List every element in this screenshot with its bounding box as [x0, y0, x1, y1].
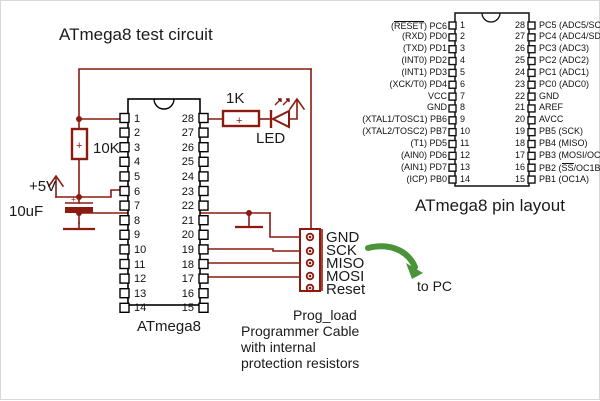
pin-pad [449, 22, 456, 29]
label-to-pc: to PC [417, 279, 452, 293]
pin-pad [120, 289, 129, 298]
pin-pad [528, 129, 535, 136]
pinout-right-row: PC3 (ADC3) [539, 44, 589, 53]
pinout-left-pin-number: 9 [460, 115, 465, 124]
pinout-right-row: AREF [539, 103, 563, 112]
pin-pad [199, 245, 208, 254]
pin-pad [528, 93, 535, 100]
pinout-left-row: GND [353, 103, 447, 112]
pin-pad [199, 303, 208, 312]
pinout-right-pin-number: 26 [508, 44, 525, 53]
pin-pad [528, 164, 535, 171]
pinout-right-row: PB1 (OC1A) [539, 175, 589, 184]
pin-pad [528, 141, 535, 148]
pin-pad [120, 260, 129, 269]
pinout-right-pin-number: 23 [508, 80, 525, 89]
pin-pad [528, 22, 535, 29]
pinout-left-pin-number: 11 [460, 139, 469, 148]
connector-caption-line: protection resistors [241, 356, 359, 370]
pin-pad [449, 46, 456, 53]
pinout-left-row: (INT0) PD2 [353, 56, 447, 65]
pin-pad [199, 114, 208, 123]
pinout-right-row: PC1 (ADC1) [539, 68, 589, 77]
ic-right-pin-number: 20 [178, 230, 194, 241]
pin-pad [199, 187, 208, 196]
pinout-left-pin-number: 5 [460, 68, 465, 77]
pinout-right-row: PB5 (SCK) [539, 127, 583, 136]
pinout-right-pin-number: 22 [508, 92, 525, 101]
pin-pad [199, 230, 208, 239]
ic-right-pin-number: 21 [178, 216, 194, 227]
pin-pad [449, 105, 456, 112]
pin-pad [449, 141, 456, 148]
ic-left-pin-number: 4 [134, 157, 140, 168]
pin-pad [528, 58, 535, 65]
pin-pad [120, 157, 129, 166]
ic-right-pin-number: 27 [178, 128, 194, 139]
pin-pad [449, 129, 456, 136]
pinout-right-row: AVCC [539, 115, 563, 124]
pin-pad [199, 289, 208, 298]
pin-pad [528, 152, 535, 159]
ic-left-pin-number: 10 [134, 245, 146, 256]
pinout-left-pin-number: 10 [460, 127, 470, 136]
ic-left-pin-number: 8 [134, 216, 140, 227]
ic-right-pin-number: 24 [178, 172, 194, 183]
pin-pad [120, 245, 129, 254]
pin-pad [449, 152, 456, 159]
ic-right-pin-number: 18 [178, 260, 194, 271]
label-led: LED [256, 131, 285, 146]
label-10k: 10K [93, 141, 120, 156]
pinout-title: ATmega8 pin layout [415, 197, 565, 214]
pinout-left-pin-number: 13 [460, 163, 470, 172]
pinout-left-row: (INT1) PD3 [353, 68, 447, 77]
ic-left-pin-number: 11 [134, 260, 145, 271]
ic-right-pin-number: 17 [178, 274, 194, 285]
pinout-left-pin-number: 2 [460, 32, 465, 41]
pinout-right-row: PB3 (MOSI/OC2) [539, 151, 600, 160]
ic-right-pin-number: 25 [178, 157, 194, 168]
pinout-right-pin-number: 24 [508, 68, 525, 77]
pinout-right-pin-number: 18 [508, 139, 525, 148]
pin-pad [199, 172, 208, 181]
pin-pad [528, 46, 535, 53]
pinout-right-row: PC4 (ADC4/SDA) [539, 32, 600, 41]
pin-pad [449, 117, 456, 124]
pinout-right-row: PB4 (MISO) [539, 139, 588, 148]
connector-caption-line: Prog_load [293, 308, 357, 322]
pinout-right-pin-number: 28 [508, 21, 525, 30]
pinout-left-pin-number: 1 [460, 21, 465, 30]
ic-right-pin-number: 19 [178, 245, 194, 256]
pinout-right-pin-number: 16 [508, 163, 525, 172]
pin-pad [199, 157, 208, 166]
pinout-left-pin-number: 4 [460, 56, 465, 65]
pinout-left-row: (ICP) PB0 [353, 175, 447, 184]
pin-pad [449, 81, 456, 88]
pin-pad [199, 143, 208, 152]
pinout-left-pin-number: 8 [460, 103, 465, 112]
pinout-right-row: PC5 (ADC5/SCL) [539, 21, 600, 30]
pin-pad [449, 176, 456, 183]
pin-pad [449, 69, 456, 76]
pin-pad [120, 230, 129, 239]
pinout-left-pin-number: 7 [460, 92, 465, 101]
pinout-left-pin-number: 14 [460, 175, 470, 184]
connector-caption-line: with internal [241, 340, 316, 354]
ic-left-pin-number: 7 [134, 201, 140, 212]
pinout-right-pin-number: 15 [508, 175, 525, 184]
ic-left-pin-number: 6 [134, 187, 140, 198]
pinout-right-pin-number: 27 [508, 32, 525, 41]
pin-pad [528, 105, 535, 112]
pin-pad [528, 69, 535, 76]
ic-left-pin-number: 14 [134, 303, 146, 314]
pin-pad [199, 274, 208, 283]
pinout-left-row: (T1) PD5 [353, 139, 447, 148]
pin-pad [120, 216, 129, 225]
pinout-right-pin-number: 17 [508, 151, 525, 160]
pinout-left-pin-number: 12 [460, 151, 470, 160]
pinout-overline-ss: SS [562, 163, 574, 173]
pinout-left-row: (AIN1) PD7 [353, 163, 447, 172]
pinout-left-row: (XTAL2/TOSC2) PB7 [353, 127, 447, 136]
ic-right-pin-number: 16 [178, 289, 194, 300]
connector-caption-line: Programmer Cable [241, 324, 359, 338]
ic-left-pin-number: 9 [134, 230, 140, 241]
pin-pad [120, 172, 129, 181]
pin-pad [120, 303, 129, 312]
pinout-left-row: (AIN0) PD6 [353, 151, 447, 160]
ic-left-pin-number: 2 [134, 128, 140, 139]
pinout-right-pin-number: 20 [508, 115, 525, 124]
pin-pad [528, 176, 535, 183]
label-1k: 1K [226, 91, 244, 106]
page-title: ATmega8 test circuit [59, 26, 213, 43]
pinout-right-pin-number: 21 [508, 103, 525, 112]
pin-pad [120, 201, 129, 210]
label-10uf: 10uF [9, 204, 43, 219]
pin-pad [120, 187, 129, 196]
ic-left-pin-number: 1 [134, 114, 140, 125]
ic-left-pin-number: 3 [134, 143, 140, 154]
pinout-right-row: PC2 (ADC2) [539, 56, 589, 65]
pinout-left-pin-number: 6 [460, 80, 465, 89]
pinout-right-pin-number: 25 [508, 56, 525, 65]
pin-pad [120, 143, 129, 152]
ic-right-pin-number: 15 [178, 303, 194, 314]
pinout-left-row: (TXD) PD1 [353, 44, 447, 53]
label-5v: +5V [29, 179, 56, 194]
ic-right-pin-number: 22 [178, 201, 194, 212]
pin-pad [449, 164, 456, 171]
pinout-right-row: PC0 (ADC0) [539, 80, 589, 89]
ic-right-pin-number: 26 [178, 143, 194, 154]
pin-pad [120, 274, 129, 283]
pinout-left-row: (XTAL1/TOSC1) PB6 [353, 115, 447, 124]
label-ic-atmega8: ATmega8 [137, 319, 201, 334]
pinout-right-row: GND [539, 92, 559, 101]
pinout-left-pin-number: 3 [460, 44, 465, 53]
pinout-left-row: VCC [353, 92, 447, 101]
pin-pad [528, 81, 535, 88]
pin-pad [528, 117, 535, 124]
pin-pad [449, 58, 456, 65]
pin-pad [199, 201, 208, 210]
pinout-left-row: (RESET) PC6 [353, 21, 447, 31]
pinout-right-row: PB2 (SS/OC1B) [539, 163, 600, 173]
pinout-right-pin-number: 19 [508, 127, 525, 136]
ic-left-pin-number: 13 [134, 289, 146, 300]
ic-right-pin-number: 28 [178, 114, 194, 125]
pin-pad [120, 114, 129, 123]
pin-pad [199, 128, 208, 137]
pin-pad [449, 93, 456, 100]
ic-right-pin-number: 23 [178, 187, 194, 198]
pin-pad [199, 216, 208, 225]
pin-pad [120, 128, 129, 137]
pinout-left-row: (RXD) PD0 [353, 32, 447, 41]
pin-pad [528, 34, 535, 41]
schematic-canvas: + + + [0, 0, 600, 400]
pinout-left-row: (XCK/T0) PD4 [353, 80, 447, 89]
pin-pad [449, 34, 456, 41]
pin-pad [199, 260, 208, 269]
connector-pin-reset[interactable]: Reset [326, 282, 365, 297]
pinout-overline-reset: RESET [394, 21, 424, 31]
ic-left-pin-number: 12 [134, 274, 146, 285]
ic-left-pin-number: 5 [134, 172, 140, 183]
